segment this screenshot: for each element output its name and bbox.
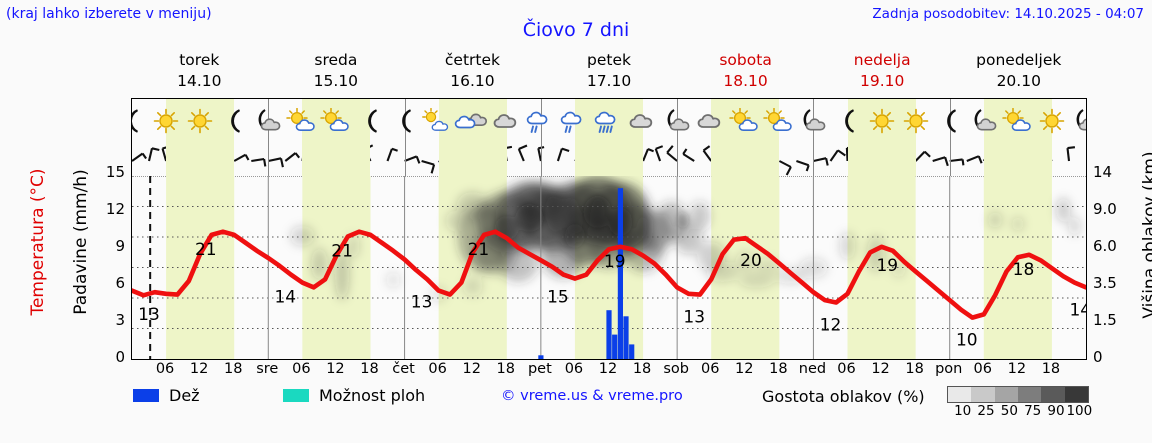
sun-cloud-icon: [726, 99, 764, 143]
temperature-label: 13: [683, 308, 705, 328]
sun-cloud-icon: [999, 99, 1037, 143]
sun-icon: [897, 99, 935, 143]
day-separator: [677, 143, 678, 176]
x-tick-12: 12: [599, 361, 617, 377]
x-tick-sob: sob: [663, 361, 689, 377]
cloud-rain-icon: [522, 99, 560, 143]
moon-cloud-icon: [249, 99, 287, 143]
cloud-icon: [692, 99, 730, 143]
cloud-density-ramp-step: [971, 387, 994, 402]
rain-legend-label: Dež: [169, 386, 200, 405]
cloud-density-ramp-tick: 75: [1024, 403, 1041, 419]
x-tick-sre: sre: [256, 361, 278, 377]
x-tick-06: 06: [292, 361, 310, 377]
day-separator: [405, 143, 406, 176]
daylight-band: [848, 143, 916, 176]
day-date: 17.10: [541, 71, 678, 92]
moon-icon: [829, 99, 867, 143]
cloud-density-ramp-tick: 10: [954, 403, 971, 419]
day-name: nedelja: [814, 50, 951, 71]
temperature-axis-title: Temperatura (°C): [28, 152, 48, 332]
temperature-label: 15: [547, 288, 569, 308]
moon-icon: [931, 99, 969, 143]
cloud-height-tick: 6.0: [1093, 237, 1137, 255]
x-tick-12: 12: [326, 361, 344, 377]
temperature-label: 19: [876, 256, 898, 276]
day-header-ponedeljek: ponedeljek20.10: [950, 50, 1087, 96]
x-tick-06: 06: [837, 361, 855, 377]
precipitation-axis-title: Padavine (mm/h): [71, 152, 91, 332]
precipitation-tick: 0: [103, 348, 125, 366]
x-tick-18: 18: [633, 361, 651, 377]
last-updated-label: Zadnja posodobitev: 14.10.2025 - 04:07: [872, 6, 1144, 22]
day-name: petek: [541, 50, 678, 71]
sun-cloud-icon: [283, 99, 321, 143]
cloud-rain-icon: [556, 99, 594, 143]
day-name: torek: [131, 50, 268, 71]
sun-icon: [863, 99, 901, 143]
cloud-density-ramp-tick: 50: [1001, 403, 1018, 419]
cloud-density-ramp-step: [948, 387, 971, 402]
x-tick-18: 18: [1042, 361, 1060, 377]
precipitation-tick: 9: [103, 237, 125, 255]
x-tick-18: 18: [905, 361, 923, 377]
daylight-band: [575, 143, 643, 176]
cloud-density-ramp-step: [995, 387, 1018, 402]
cloud-density-ramp-tick: 25: [977, 403, 994, 419]
day-date: 14.10: [131, 71, 268, 92]
day-name: četrtek: [404, 50, 541, 71]
rain-legend-swatch: [133, 389, 159, 402]
moon-icon: [386, 99, 424, 143]
moon-cloud-icon: [965, 99, 1003, 143]
daylight-band: [166, 143, 234, 176]
x-axis-ticks: 061218sre061218čet061218pet061218sob0612…: [131, 361, 1087, 383]
cloud-icon: [488, 99, 526, 143]
x-tick-18: 18: [769, 361, 787, 377]
cloud-density-legend-label: Gostota oblakov (%): [762, 387, 925, 406]
temperature-label: 21: [331, 242, 353, 262]
temperature-label: 20: [740, 251, 762, 271]
precipitation-tick: 15: [103, 163, 125, 181]
showers-legend-label: Možnost ploh: [319, 386, 425, 405]
precipitation-tick: 12: [103, 200, 125, 218]
x-tick-12: 12: [1008, 361, 1026, 377]
day-separator: [268, 143, 269, 176]
cloud-height-tick: 3.5: [1093, 274, 1137, 292]
temperature-label: 12: [820, 316, 842, 336]
temperature-label: 19: [604, 252, 626, 272]
day-separator: [813, 143, 814, 176]
showers-legend-swatch: [283, 389, 309, 402]
sun-icon: [1033, 99, 1071, 143]
day-date: 19.10: [814, 71, 951, 92]
cloud-density-ramp-tick: 90: [1047, 403, 1064, 419]
x-tick-pet: pet: [528, 361, 552, 377]
cloud-height-tick: 1.5: [1093, 311, 1137, 329]
day-header-row: torek14.10sreda15.10četrtek16.10petek17.…: [131, 50, 1087, 96]
day-date: 18.10: [677, 71, 814, 92]
precipitation-tick: 3: [103, 311, 125, 329]
wind-barb-strip: [132, 143, 1086, 177]
temperature-label: 13: [138, 305, 160, 325]
cloud-height-tick: 0: [1093, 348, 1137, 366]
daylight-band: [302, 143, 370, 176]
x-tick-06: 06: [974, 361, 992, 377]
cloud-density-ramp-step: [1041, 387, 1064, 402]
temperature-label: 14: [1069, 300, 1086, 320]
day-header-torek: torek14.10: [131, 50, 268, 96]
x-tick-12: 12: [190, 361, 208, 377]
moon-cloud-icon: [1067, 99, 1086, 143]
day-separator: [541, 143, 542, 176]
cloud-height-axis-title: Višina oblakov (km): [1140, 140, 1152, 330]
x-tick-ned: ned: [799, 361, 826, 377]
x-tick-pon: pon: [935, 361, 962, 377]
moon-icon: [215, 99, 253, 143]
day-date: 15.10: [268, 71, 405, 92]
x-tick-06: 06: [156, 361, 174, 377]
day-header-sreda: sreda15.10: [268, 50, 405, 96]
copyright-link[interactable]: © vreme.us & vreme.pro: [501, 388, 683, 404]
x-tick-12: 12: [735, 361, 753, 377]
cloud-height-tick: 14: [1093, 163, 1137, 181]
cloud-cloud-icon: [454, 99, 492, 143]
moon-icon: [352, 99, 390, 143]
chart-legend: Dež Možnost ploh © vreme.us & vreme.pro …: [131, 386, 1141, 426]
cloud-icon: [624, 99, 662, 143]
day-name: ponedeljek: [950, 50, 1087, 71]
temperature-label: 14: [274, 288, 296, 308]
day-name: sobota: [677, 50, 814, 71]
day-header-nedelja: nedelja19.10: [814, 50, 951, 96]
sun-icon: [147, 99, 185, 143]
cloud-density-ramp-step: [1018, 387, 1041, 402]
x-tick-12: 12: [871, 361, 889, 377]
x-tick-18: 18: [497, 361, 515, 377]
cloud-height-tick: 9.0: [1093, 200, 1137, 218]
temperature-precipitation-cloud-plot: 132114211321151913201219101814: [132, 176, 1086, 359]
weather-icon-strip: [132, 99, 1086, 143]
x-tick-06: 06: [701, 361, 719, 377]
x-tick-18: 18: [360, 361, 378, 377]
temperature-label: 21: [468, 240, 490, 260]
day-header-četrtek: četrtek16.10: [404, 50, 541, 96]
chart-area: 132114211321151913201219101814: [132, 176, 1086, 359]
temperature-label: 13: [411, 292, 433, 312]
day-name: sreda: [268, 50, 405, 71]
day-header-petek: petek17.10: [541, 50, 678, 96]
x-tick-12: 12: [462, 361, 480, 377]
cloud-density-field: [290, 176, 1080, 302]
x-tick-06: 06: [565, 361, 583, 377]
daylight-band: [711, 143, 779, 176]
temperature-label: 21: [195, 240, 217, 260]
cloud-density-ramp-step: [1065, 387, 1088, 402]
temperature-label: 10: [956, 331, 978, 351]
cloud-density-ramp-ticks: 1025507590100: [939, 403, 1095, 421]
forecast-plot[interactable]: 132114211321151913201219101814: [131, 98, 1087, 360]
moon-cloud-icon: [658, 99, 696, 143]
page-title: Čiovo 7 dni: [0, 19, 1152, 41]
sun-cloud-icon: [317, 99, 355, 143]
sun-icon: [181, 99, 219, 143]
daylight-band: [439, 143, 507, 176]
day-header-sobota: sobota18.10: [677, 50, 814, 96]
x-tick-čet: čet: [392, 361, 415, 377]
x-tick-06: 06: [428, 361, 446, 377]
cloud-rain-heavy-icon: [590, 99, 628, 143]
day-date: 16.10: [404, 71, 541, 92]
cloud-density-ramp-tick: 100: [1066, 403, 1092, 419]
x-tick-18: 18: [224, 361, 242, 377]
sun-cloud-icon: [760, 99, 798, 143]
cloud-density-color-ramp: [947, 386, 1089, 403]
daylight-band: [984, 143, 1052, 176]
day-date: 20.10: [950, 71, 1087, 92]
temperature-label: 18: [1013, 260, 1035, 280]
day-separator: [950, 143, 951, 176]
sun-cloud-small-icon: [420, 99, 458, 143]
precipitation-tick: 6: [103, 274, 125, 292]
moon-cloud-icon: [794, 99, 832, 143]
